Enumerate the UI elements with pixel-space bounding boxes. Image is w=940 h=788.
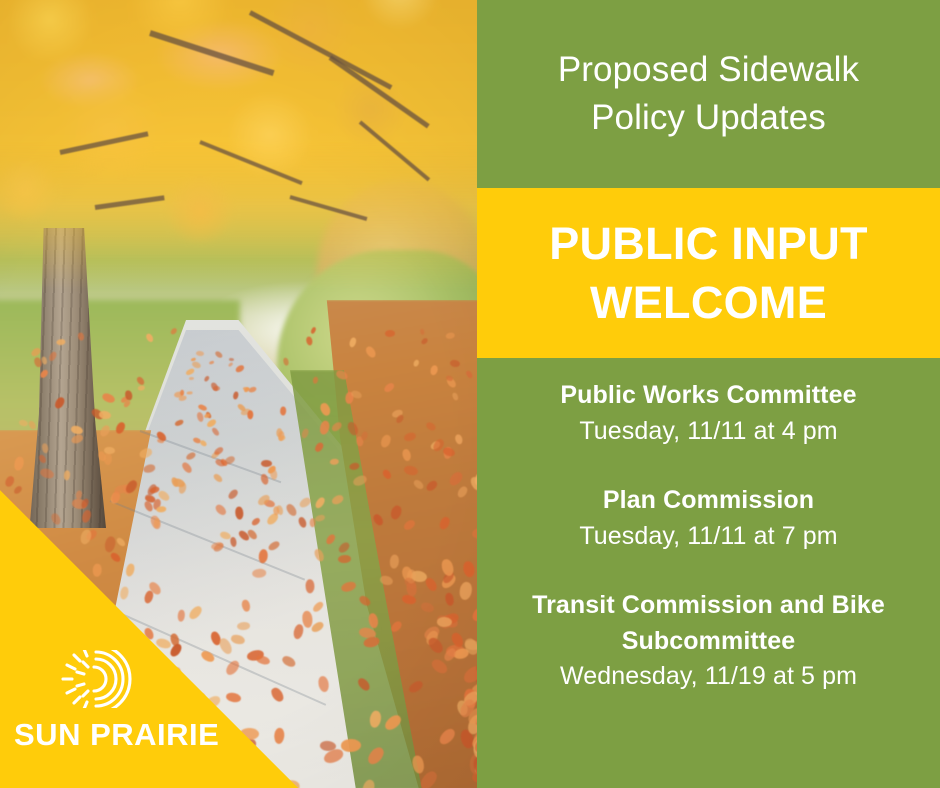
list-item: Transit Commission and Bike Subcommittee… [477,588,940,695]
meeting-datetime: Tuesday, 11/11 at 7 pm [493,519,924,555]
title-line-2: Policy Updates [591,94,826,142]
sun-prairie-logo: SUN PRAIRIE [14,650,204,750]
sun-rays-icon [58,650,204,713]
page-title: Proposed Sidewalk Policy Updates [477,0,940,188]
content-panel: Proposed Sidewalk Policy Updates PUBLIC … [477,0,940,788]
meeting-name: Public Works Committee [493,378,924,414]
meeting-list: Public Works Committee Tuesday, 11/11 at… [477,358,940,788]
banner-line-1: PUBLIC INPUT [549,214,868,273]
poster-graphic: SUN PRAIRIE Proposed Sidewalk Policy Upd… [0,0,940,788]
list-item: Public Works Committee Tuesday, 11/11 at… [477,378,940,449]
meeting-name: Plan Commission [493,483,924,519]
list-item: Plan Commission Tuesday, 11/11 at 7 pm [477,483,940,554]
sun-prairie-wordmark: SUN PRAIRIE [14,719,204,750]
title-line-1: Proposed Sidewalk [558,46,859,94]
public-input-banner: PUBLIC INPUT WELCOME [477,188,940,358]
meeting-datetime: Tuesday, 11/11 at 4 pm [493,414,924,450]
banner-line-2: WELCOME [590,273,827,332]
meeting-name: Transit Commission and Bike Subcommittee [493,588,924,659]
meeting-datetime: Wednesday, 11/19 at 5 pm [493,659,924,695]
